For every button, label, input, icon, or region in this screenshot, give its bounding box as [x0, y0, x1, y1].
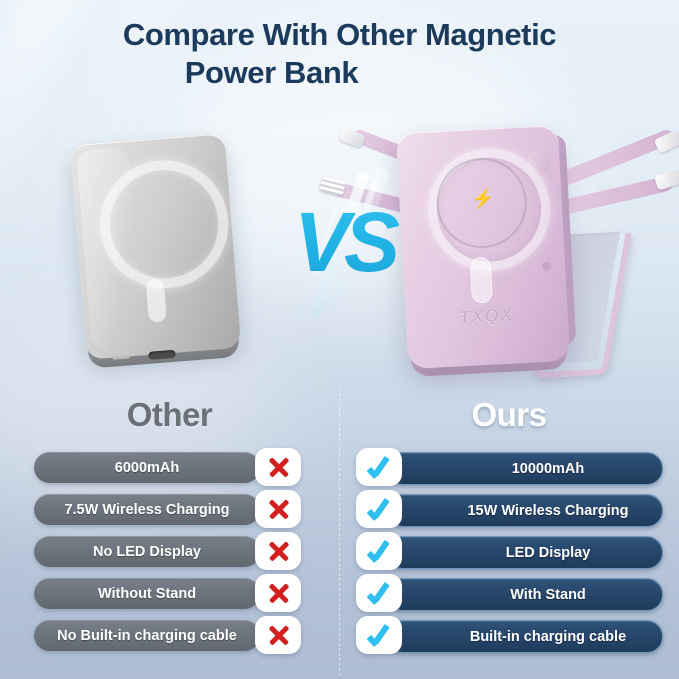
feature-label: With Stand [464, 587, 586, 603]
x-badge [255, 574, 301, 612]
device-indicator-pill [146, 278, 167, 322]
check-icon [367, 540, 391, 562]
feature-pill: No LED Display [34, 536, 260, 567]
versus-badge: VS [288, 183, 400, 309]
check-icon [367, 456, 391, 478]
check-icon [367, 582, 391, 604]
table-row: With Stand [339, 574, 679, 616]
device-body [70, 133, 241, 359]
x-badge [255, 448, 301, 486]
table-row: LED Display [339, 532, 679, 574]
table-row: No Built-in charging cable [0, 616, 339, 658]
feature-label: 10000mAh [466, 461, 585, 477]
check-icon [367, 498, 391, 520]
table-row: 7.5W Wireless Charging [0, 490, 339, 532]
x-icon [267, 456, 289, 478]
table-row: 10000mAh [339, 448, 679, 490]
infographic-canvas: Compare With Other Magnetic Power Bank [0, 0, 679, 679]
feature-pill: 7.5W Wireless Charging [34, 494, 260, 525]
title-line-1: Compare With Other Magnetic [0, 16, 679, 54]
power-button [542, 261, 551, 270]
comparison-column-ours: 10000mAh 15W Wireless Charging LED Displ… [339, 448, 679, 658]
table-row: 15W Wireless Charging [339, 490, 679, 532]
check-badge [356, 574, 402, 612]
x-badge [255, 532, 301, 570]
x-icon [267, 582, 289, 604]
feature-pill: 15W Wireless Charging [387, 494, 663, 527]
x-icon [267, 624, 289, 646]
charging-bolt-icon: ⚡ [471, 189, 496, 209]
check-icon [367, 624, 391, 646]
feature-pill: Built-in charging cable [387, 620, 663, 653]
x-badge [255, 616, 301, 654]
table-row: 6000mAh [0, 448, 339, 490]
x-icon [267, 498, 289, 520]
brand-logo-text: TXQX [405, 303, 568, 331]
feature-pill: 10000mAh [387, 452, 663, 485]
column-heading-ours: Ours [339, 396, 679, 434]
check-badge [356, 448, 402, 486]
feature-pill: LED Display [387, 536, 663, 569]
title-line-2: Power Bank [0, 54, 679, 92]
feature-pill: Without Stand [34, 578, 260, 609]
feature-pill: No Built-in charging cable [34, 620, 260, 651]
page-title: Compare With Other Magnetic Power Bank [0, 16, 679, 92]
comparison-column-other: 6000mAh 7.5W Wireless Charging No LED Di… [0, 448, 339, 658]
x-icon [267, 540, 289, 562]
feature-label: LED Display [460, 545, 591, 561]
competitor-power-bank-image [70, 133, 241, 359]
check-badge [356, 490, 402, 528]
device-body: ⚡ TXQX [396, 125, 570, 369]
device-indicator-pill [470, 257, 493, 304]
check-badge [356, 616, 402, 654]
feature-label: 15W Wireless Charging [421, 503, 628, 519]
column-heading-other: Other [0, 396, 339, 434]
feature-label: Built-in charging cable [424, 629, 626, 645]
our-power-bank-image: ⚡ TXQX [396, 125, 570, 369]
table-row: Built-in charging cable [339, 616, 679, 658]
table-row: Without Stand [0, 574, 339, 616]
check-badge [356, 532, 402, 570]
table-row: No LED Display [0, 532, 339, 574]
versus-label: VS [288, 183, 400, 309]
feature-pill: 6000mAh [34, 452, 260, 483]
feature-pill: With Stand [387, 578, 663, 611]
x-badge [255, 490, 301, 528]
